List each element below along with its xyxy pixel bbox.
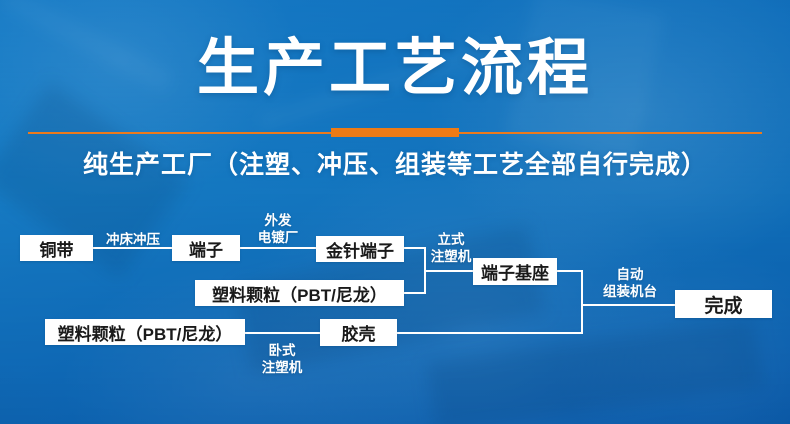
edge-label-outsourced-plating: 外发 电镀厂 <box>246 213 310 247</box>
edge-label-vertical-injection: 立式 注塑机 <box>424 232 478 266</box>
flow-node-terminal[interactable]: 端子 <box>172 235 240 261</box>
banner-root: 生产工艺流程 纯生产工厂（注塑、冲压、组装等工艺全部自行完成） 铜带 端子 金针… <box>0 0 790 424</box>
edge-label-auto-assembly: 自动 组装机台 <box>590 267 670 301</box>
edge-label-horizontal-injection: 卧式 注塑机 <box>254 343 310 377</box>
flow-node-rubber-shell[interactable]: 胶壳 <box>320 319 397 346</box>
edge-label-line2: 组装机台 <box>590 284 670 301</box>
connector-merge-to-finished <box>581 304 675 306</box>
connector-merge-to-terminal-base <box>424 270 473 272</box>
flow-node-plastic-pellets-bottom[interactable]: 塑料颗粒（PBT/尼龙） <box>45 319 245 345</box>
edge-label-punch-press: 冲床冲压 <box>98 232 168 249</box>
connector-merge-vertical-right <box>581 270 583 333</box>
connector-shell-out <box>397 332 583 334</box>
connector-terminal-to-goldpin <box>240 247 316 249</box>
flow-node-copper-strip[interactable]: 铜带 <box>20 235 93 261</box>
edge-label-line1: 自动 <box>590 267 670 284</box>
edge-label-line1: 外发 <box>246 213 310 230</box>
flow-node-terminal-base[interactable]: 端子基座 <box>473 258 557 285</box>
flow-node-gold-pin-terminal[interactable]: 金针端子 <box>316 236 404 262</box>
edge-label-line1: 立式 <box>424 232 478 249</box>
flow-node-finished[interactable]: 完成 <box>675 290 772 318</box>
process-flow-diagram: 铜带 端子 金针端子 塑料颗粒（PBT/尼龙） 端子基座 塑料颗粒（PBT/尼龙… <box>0 0 790 424</box>
flow-node-plastic-pellets-top[interactable]: 塑料颗粒（PBT/尼龙） <box>195 280 404 306</box>
connector-goldpin-out <box>404 247 426 249</box>
edge-label-line1: 卧式 <box>254 343 310 360</box>
connector-pellets-bottom-to-shell <box>245 332 320 334</box>
connector-terminal-base-out <box>557 270 583 272</box>
edge-label-line2: 注塑机 <box>424 249 478 266</box>
edge-label-line2: 电镀厂 <box>246 230 310 247</box>
edge-label-line2: 注塑机 <box>254 360 310 377</box>
connector-pellets-top-out <box>404 292 426 294</box>
